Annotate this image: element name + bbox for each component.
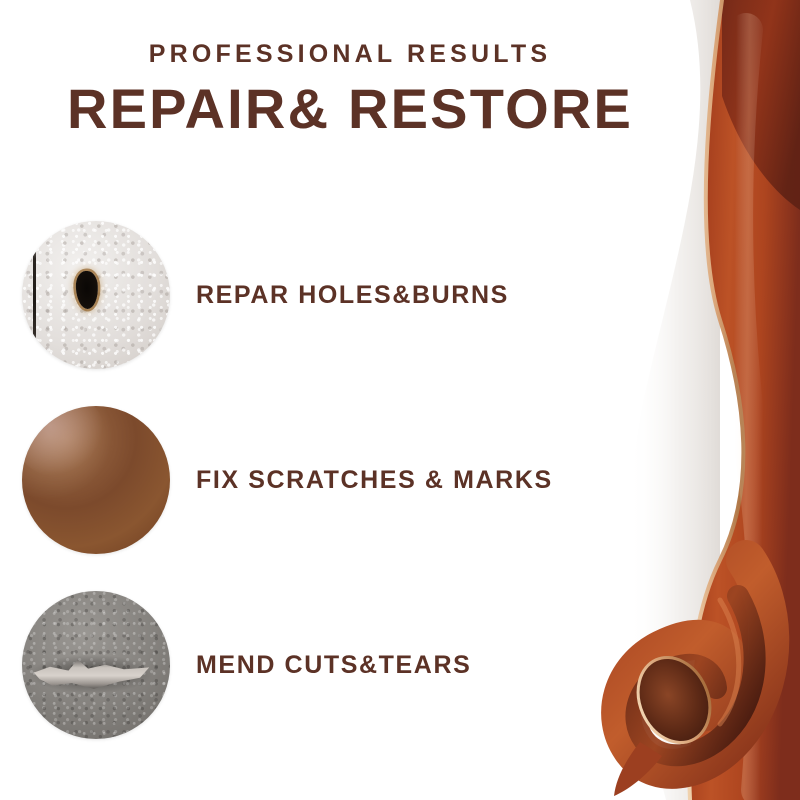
leather-strip-body (689, 0, 800, 800)
leather-swatch-scratches-marks (22, 406, 170, 554)
feature-row: REPAR HOLES&BURNS (22, 220, 582, 370)
leather-coil-outer-wrap (621, 560, 769, 769)
eyebrow-text: PROFESSIONAL RESULTS (0, 42, 700, 67)
feature-row: FIX SCRATCHES & MARKS (22, 405, 582, 555)
leather-seam (33, 230, 36, 360)
leather-coil-inner-wrap (636, 596, 754, 755)
leather-coil-mouth-edge (625, 646, 723, 754)
leather-sheen (736, 30, 765, 790)
leather-coil (614, 560, 769, 796)
leather-strip-top-shade (722, 0, 800, 210)
leather-swatch-holes-burns (22, 221, 170, 369)
leather-coil-tail (614, 742, 662, 796)
feature-label: FIX SCRATCHES & MARKS (196, 468, 553, 493)
feature-label: REPAR HOLES&BURNS (196, 283, 509, 308)
leather-swatch-cuts-tears (22, 591, 170, 739)
leather-coil-highlight (720, 600, 739, 724)
page-title: REPAIR& RESTORE (0, 80, 700, 139)
product-banner: PROFESSIONAL RESULTS REPAIR& RESTORE REP… (0, 0, 800, 800)
feature-label: MEND CUTS&TEARS (196, 653, 471, 678)
leather-coil-mouth (625, 646, 723, 754)
feature-row: MEND CUTS&TEARS (22, 590, 582, 740)
